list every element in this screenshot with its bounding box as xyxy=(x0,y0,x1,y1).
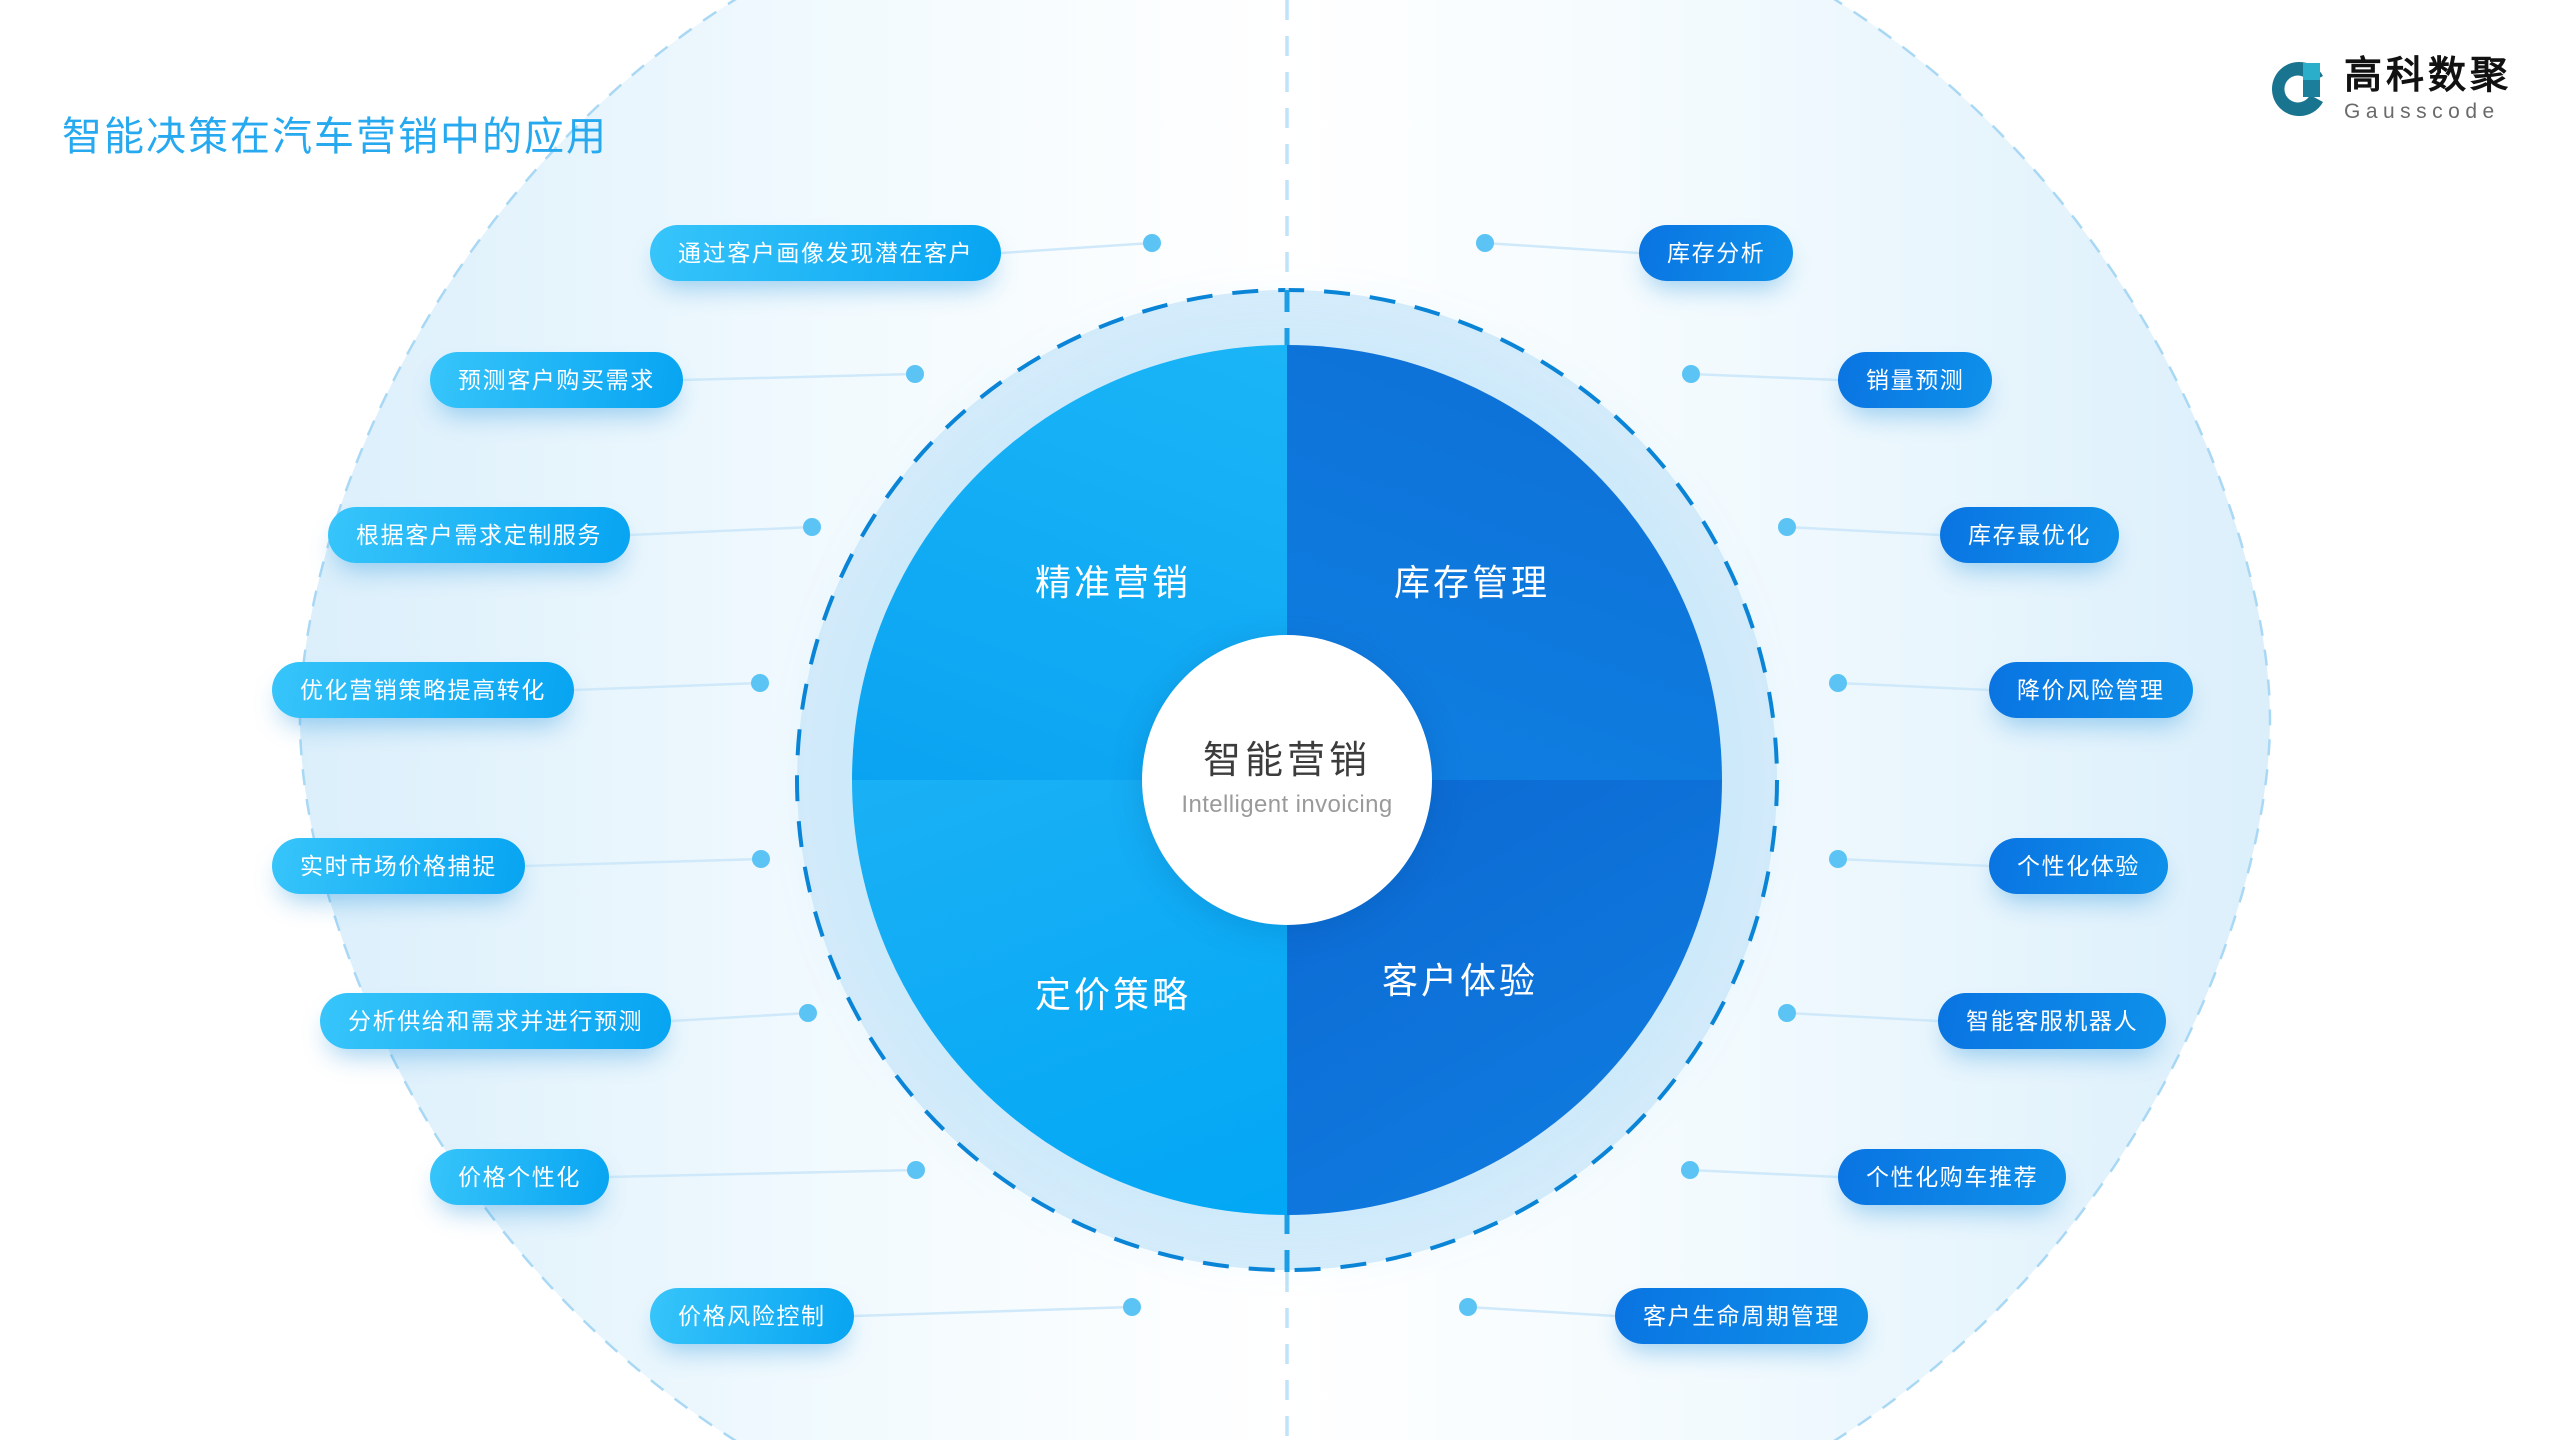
left-connector-1-dot xyxy=(1143,234,1161,252)
pill-right-7[interactable]: 个性化购车推荐 xyxy=(1838,1149,2066,1205)
left-connector-3-line xyxy=(630,527,812,535)
right-connector-1-line xyxy=(1485,243,1639,253)
pill-right-1[interactable]: 库存分析 xyxy=(1639,225,1793,281)
pill-right-3[interactable]: 库存最优化 xyxy=(1940,507,2119,563)
left-connector-6-dot xyxy=(799,1004,817,1022)
pill-left-3[interactable]: 根据客户需求定制服务 xyxy=(328,507,630,563)
right-connector-5-line xyxy=(1838,859,1989,866)
pill-left-6[interactable]: 分析供给和需求并进行预测 xyxy=(320,993,671,1049)
brand-name-en: Gausscode xyxy=(2344,101,2512,122)
left-connector-6-line xyxy=(671,1013,808,1021)
right-connector-8-line xyxy=(1468,1307,1615,1316)
quadrant-label-bottom-right: 客户体验 xyxy=(1382,952,1538,1004)
pill-right-8[interactable]: 客户生命周期管理 xyxy=(1615,1288,1868,1344)
quadrant-label-top-left: 精准营销 xyxy=(1035,554,1191,606)
left-connector-1-line xyxy=(1001,243,1152,253)
hub-title: 智能营销 xyxy=(1203,741,1371,783)
left-connector-5-dot xyxy=(752,850,770,868)
right-connector-8-dot xyxy=(1459,1298,1477,1316)
left-connector-4-line xyxy=(574,683,760,690)
left-connector-8-dot xyxy=(1123,1298,1141,1316)
right-connector-3-dot xyxy=(1778,518,1796,536)
left-connector-8-line xyxy=(854,1307,1132,1316)
left-connector-5-line xyxy=(525,859,761,866)
brand-logo[interactable]: 高科数聚 Gausscode xyxy=(2268,56,2512,122)
left-connector-3-dot xyxy=(803,518,821,536)
right-connector-4-dot xyxy=(1829,674,1847,692)
right-connector-6-line xyxy=(1787,1013,1938,1021)
right-connector-6-dot xyxy=(1778,1004,1796,1022)
center-hub[interactable]: 智能营销 Intelligent invoicing xyxy=(1142,635,1432,925)
gausscode-logo-icon xyxy=(2268,58,2330,120)
pill-left-1[interactable]: 通过客户画像发现潜在客户 xyxy=(650,225,1001,281)
right-connector-4-line xyxy=(1838,683,1989,690)
hub-subtitle: Intelligent invoicing xyxy=(1181,791,1392,819)
page-title: 智能决策在汽车营销中的应用 xyxy=(62,104,608,162)
left-connector-4-dot xyxy=(751,674,769,692)
right-connector-3-line xyxy=(1787,527,1940,535)
pill-left-7[interactable]: 价格个性化 xyxy=(430,1149,609,1205)
infographic-canvas: 精准营销 库存管理 定价策略 客户体验 智能营销 Intelligent inv… xyxy=(0,0,2560,1440)
brand-name-cn: 高科数聚 xyxy=(2344,56,2512,94)
pill-right-5[interactable]: 个性化体验 xyxy=(1989,838,2168,894)
pill-left-5[interactable]: 实时市场价格捕捉 xyxy=(272,838,525,894)
pill-left-8[interactable]: 价格风险控制 xyxy=(650,1288,854,1344)
pill-right-6[interactable]: 智能客服机器人 xyxy=(1938,993,2166,1049)
brand-text: 高科数聚 Gausscode xyxy=(2344,56,2512,122)
quadrant-label-top-right: 库存管理 xyxy=(1394,554,1550,606)
pill-left-2[interactable]: 预测客户购买需求 xyxy=(430,352,683,408)
right-connector-5-dot xyxy=(1829,850,1847,868)
pill-right-4[interactable]: 降价风险管理 xyxy=(1989,662,2193,718)
quadrant-label-bottom-left: 定价策略 xyxy=(1035,966,1191,1018)
pill-left-4[interactable]: 优化营销策略提高转化 xyxy=(272,662,574,718)
right-connector-1-dot xyxy=(1476,234,1494,252)
pill-right-2[interactable]: 销量预测 xyxy=(1838,352,1992,408)
